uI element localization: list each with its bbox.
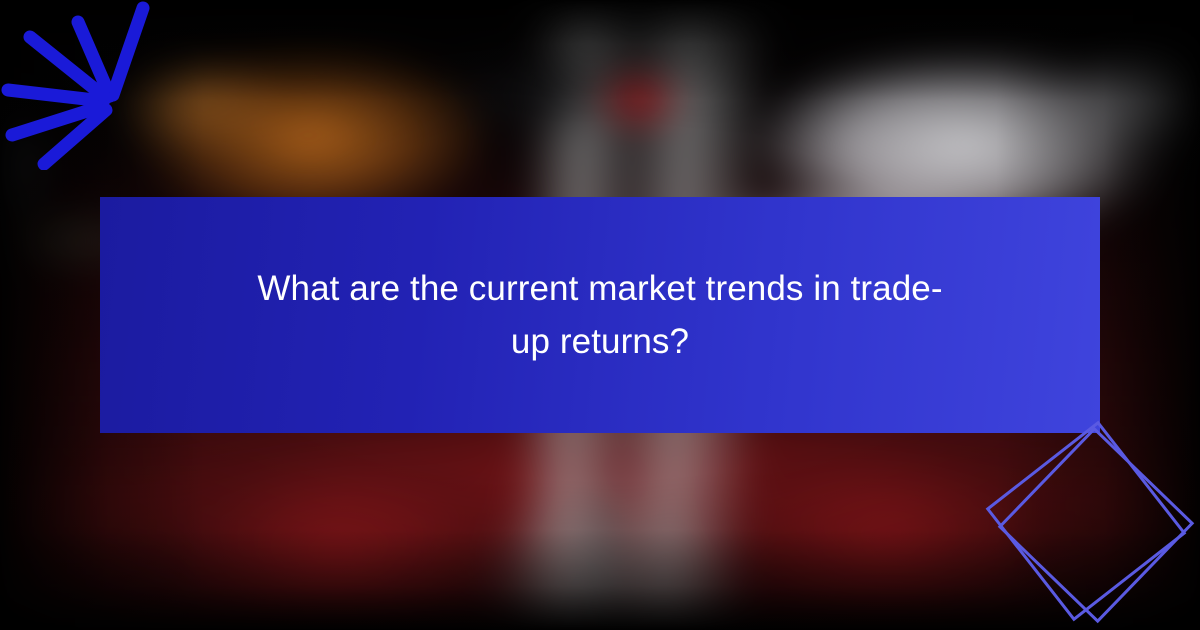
share-card: What are the current market trends in tr… (0, 0, 1200, 630)
overlapping-squares-icon (980, 415, 1200, 630)
title-banner: What are the current market trends in tr… (100, 197, 1100, 433)
starburst-icon (0, 0, 190, 170)
page-title: What are the current market trends in tr… (250, 262, 950, 368)
